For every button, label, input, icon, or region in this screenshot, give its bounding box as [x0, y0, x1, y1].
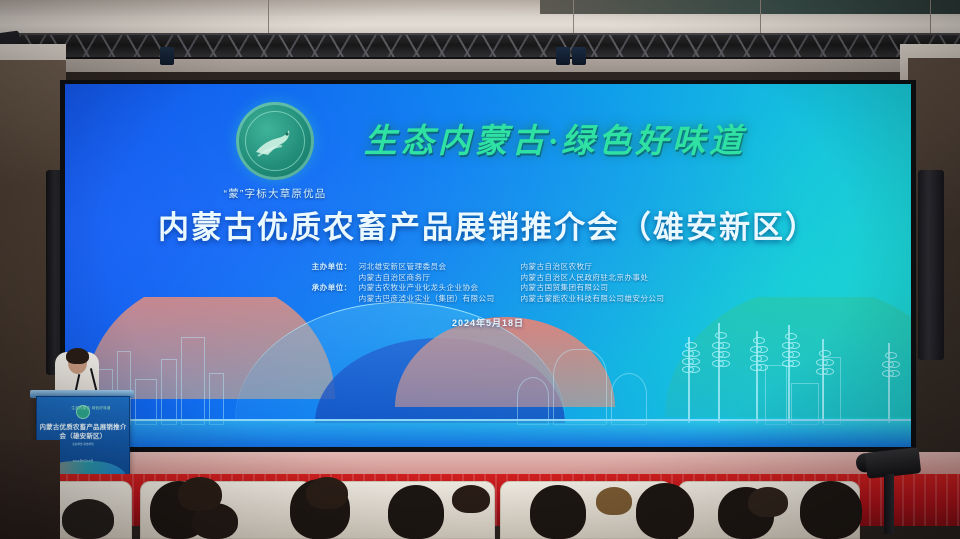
wheat-stalk-icon [883, 343, 895, 423]
coorganizer-label: 承办单位： [312, 283, 352, 294]
city-skyline-right [517, 349, 647, 425]
podium-slogan: 生态内蒙古·绿色好味道 [37, 406, 129, 411]
building-outline [161, 359, 177, 425]
pavilion-outline [611, 373, 647, 425]
audience-head [530, 485, 586, 539]
wheat-stalk-icon [683, 337, 695, 423]
poster-title: 内蒙古优质农畜产品展销推介会（雄安新区） [65, 202, 911, 247]
pavilion-outline [553, 349, 607, 425]
podium-title: 内蒙古优质农畜产品展销推介会（雄安新区） [37, 423, 129, 441]
audience-head [800, 481, 862, 539]
audience-head [748, 487, 788, 517]
audience-head [636, 483, 694, 539]
grassland-emblem-icon [236, 102, 314, 180]
organizer-left-column: 主办单位： 河北雄安新区管理委员会 内蒙古自治区商务厅 承办单位： 内蒙古农牧业… [312, 262, 495, 304]
audience-head [596, 487, 632, 515]
truss-wire [930, 0, 931, 34]
truss-wire [760, 0, 761, 34]
camera-tripod [884, 474, 894, 534]
stage-light [556, 47, 570, 65]
audience-head [388, 485, 444, 539]
host-value: 河北雄安新区管理委员会 [359, 262, 495, 273]
loudspeaker-right [918, 170, 944, 360]
audience-head [178, 477, 222, 511]
brand-logo: “蒙”字标大草原优品 [210, 102, 340, 201]
poster-slogan: 生态内蒙古·绿色好味道 [345, 114, 765, 170]
wheat-stalk-icon [751, 331, 763, 423]
stage-light [160, 47, 174, 65]
ceiling-dark-panel [540, 0, 960, 14]
truss-lattice [0, 35, 960, 57]
wheat-stalk-icon [817, 339, 829, 423]
organizer-value: 内蒙古蒙能农业科技有限公司雄安分公司 [520, 294, 664, 305]
pavilion-outline [517, 377, 549, 425]
coorganizer-value: 内蒙古巴彦淖业实业（集团）有限公司 [359, 294, 495, 305]
host-value: 内蒙古自治区商务厅 [359, 273, 495, 284]
organizer-value: 内蒙古国贸集团有限公司 [520, 283, 664, 294]
wheat-stalk-icon [783, 325, 795, 423]
artwork-ground-line [65, 419, 911, 447]
organizer-right-column: 内蒙古自治区农牧厅 内蒙古自治区人民政府驻北京办事处 内蒙古国贸集团有限公司 内… [520, 262, 664, 304]
organizer-value: 内蒙古自治区人民政府驻北京办事处 [520, 273, 664, 284]
speaker-hair [66, 348, 89, 364]
foreground-dark-left [0, 440, 60, 539]
logo-caption: “蒙”字标大草原优品 [210, 186, 340, 201]
audience-head [62, 499, 114, 539]
horse-glyph-icon [252, 126, 298, 160]
audience-head [306, 477, 348, 509]
coorganizer-value: 内蒙古农牧业产业化龙头企业协会 [359, 283, 495, 294]
truss-wire [573, 0, 574, 34]
led-screen: “蒙”字标大草原优品 生态内蒙古·绿色好味道 内蒙古优质农畜产品展销推介会（雄安… [65, 84, 911, 447]
host-label: 主办单位： [312, 262, 352, 273]
lighting-truss [0, 33, 960, 59]
audience-head [452, 485, 490, 513]
organizer-block: 主办单位： 河北雄安新区管理委员会 内蒙古自治区商务厅 承办单位： 内蒙古农牧业… [65, 262, 911, 304]
event-date: 2024年5月18日 [65, 316, 911, 329]
stage-light [572, 47, 586, 65]
conference-hall-photo: “蒙”字标大草原优品 生态内蒙古·绿色好味道 内蒙古优质农畜产品展销推介会（雄安… [0, 0, 960, 539]
building-outline [181, 337, 205, 425]
truss-wire [268, 0, 269, 34]
wheat-stalk-icon [713, 323, 725, 423]
building-outline [209, 373, 224, 425]
organizer-value: 内蒙古自治区农牧厅 [520, 262, 664, 273]
